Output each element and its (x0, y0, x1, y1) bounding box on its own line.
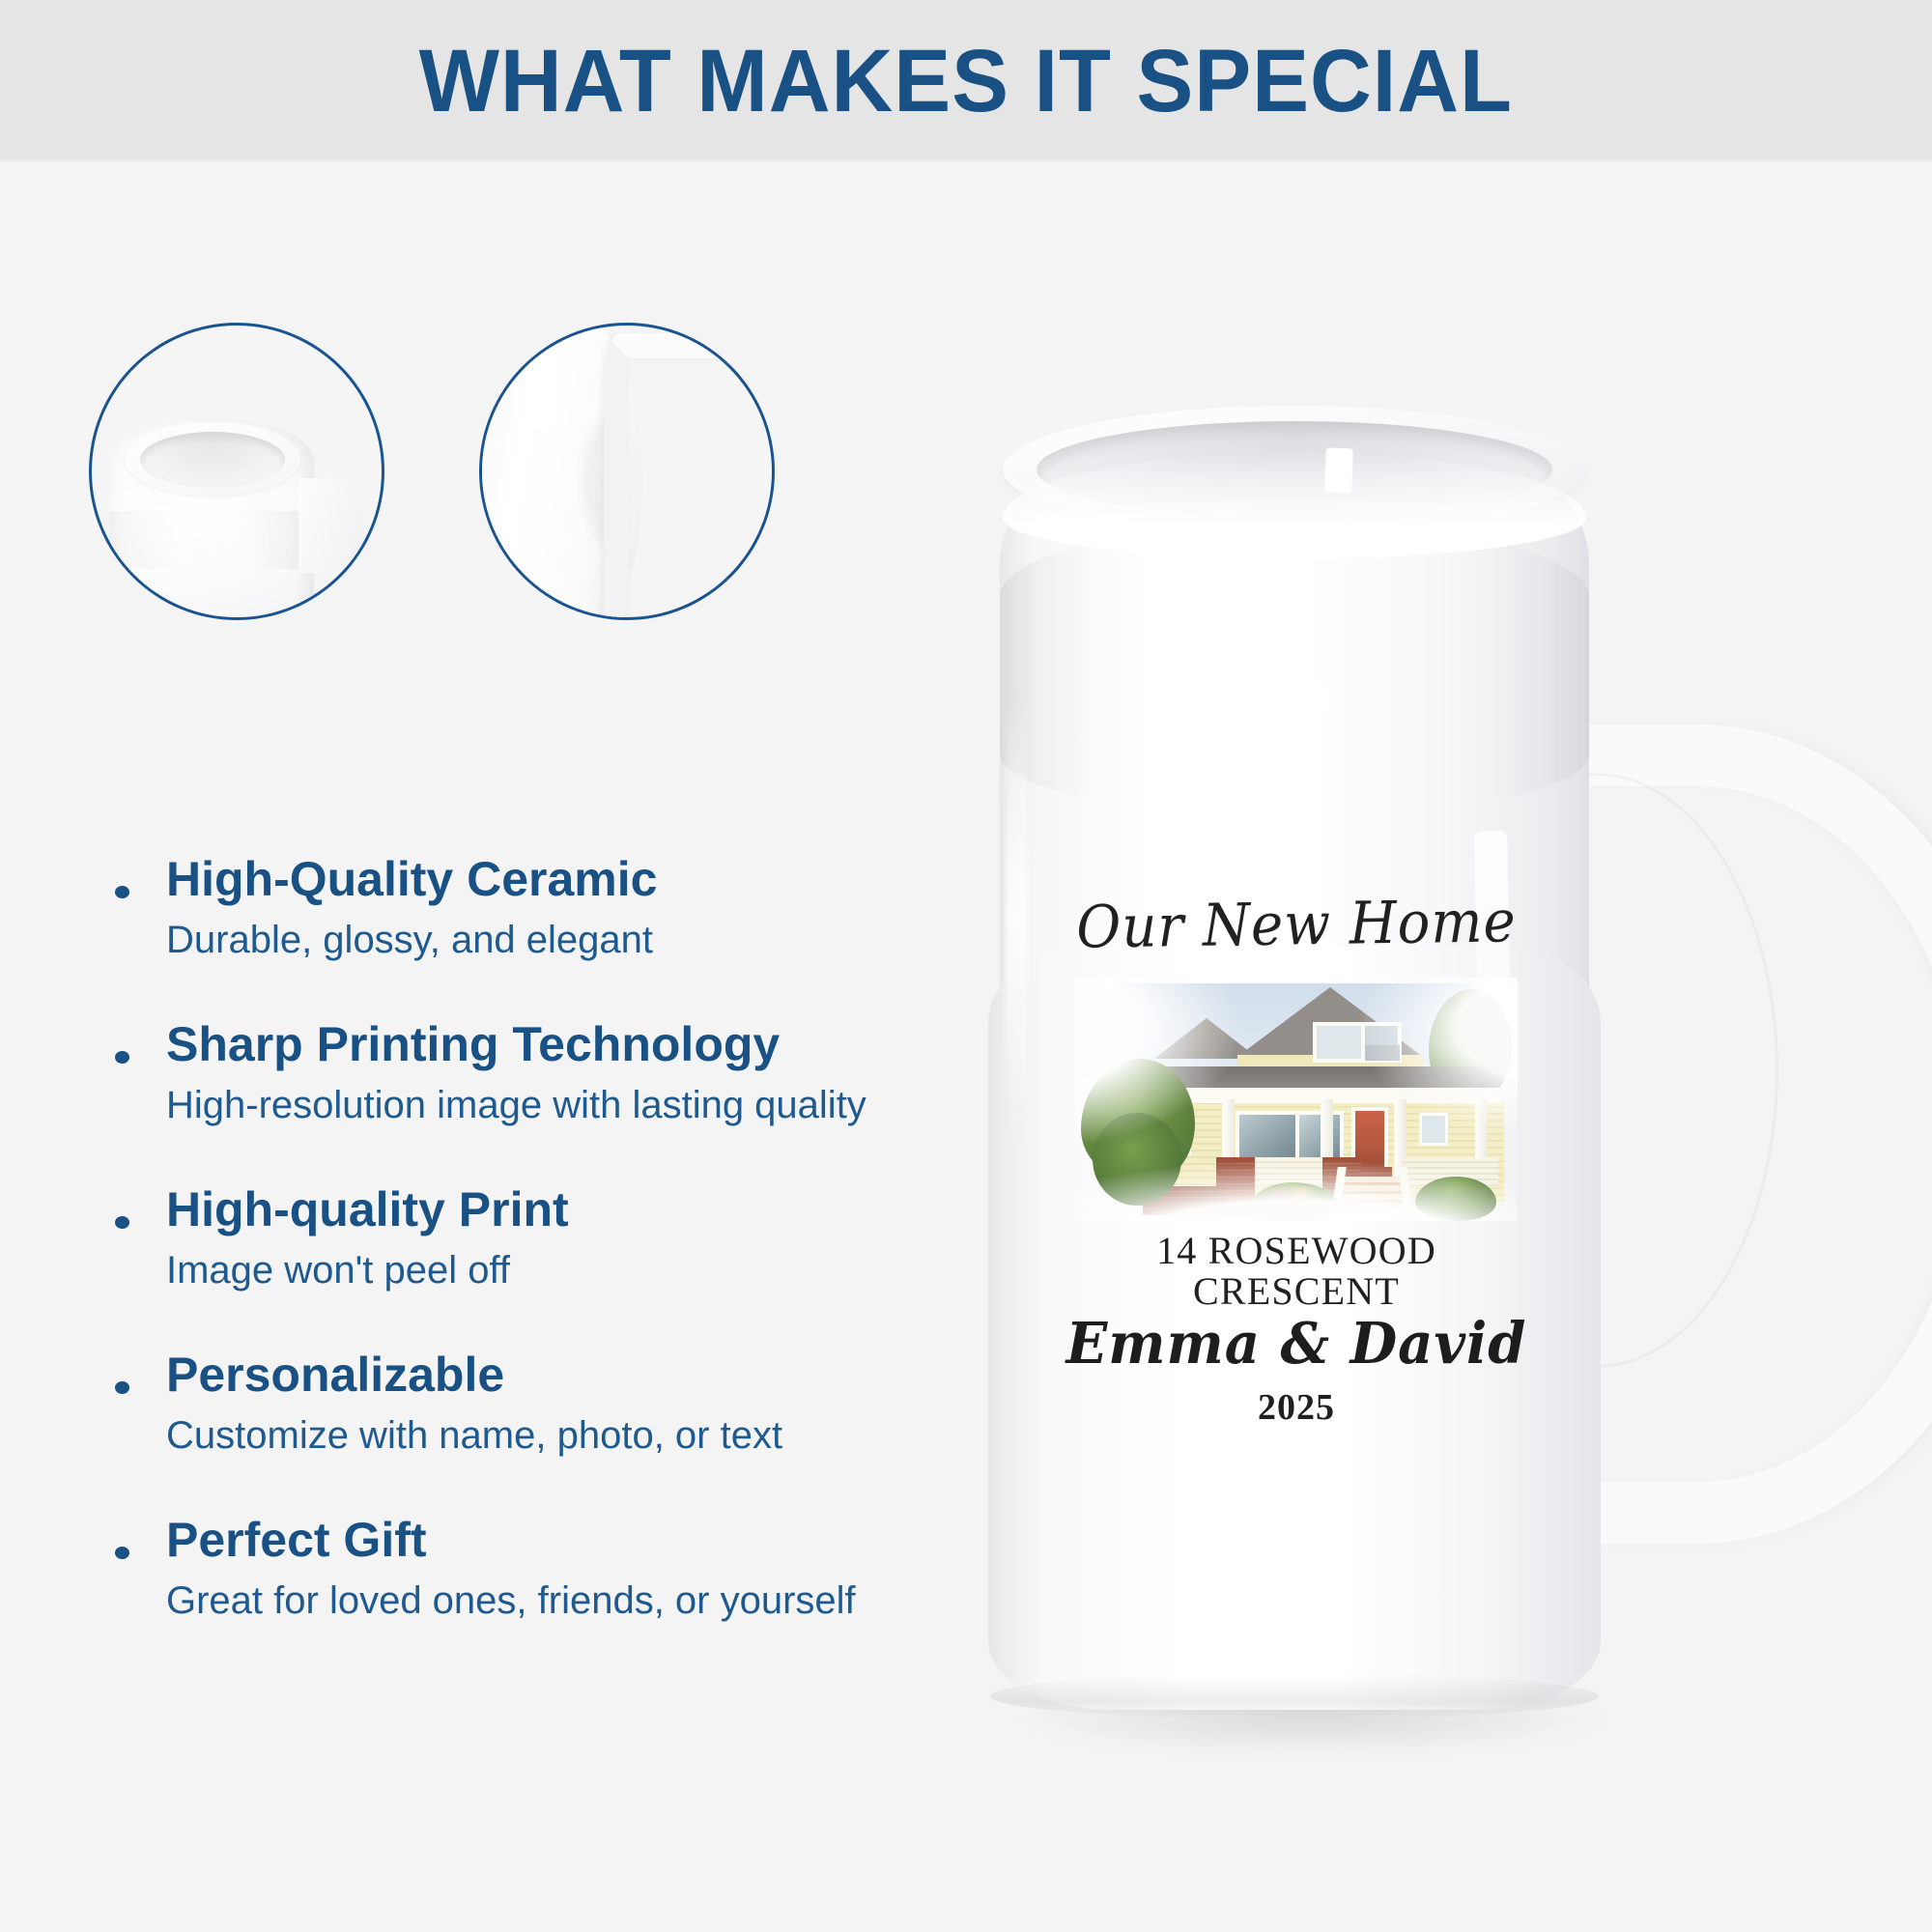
feature-title: Sharp Printing Technology (106, 1015, 869, 1074)
feature-title: Perfect Gift (106, 1511, 869, 1570)
page-title: WHAT MAKES IT SPECIAL (419, 37, 1513, 126)
bullet-dot-icon (115, 1051, 129, 1064)
photo-bush-left (1093, 1113, 1181, 1206)
feature-description: Customize with name, photo, or text (106, 1410, 869, 1461)
feature-item-print-quality: High-quality Print Image won't peel off (106, 1180, 869, 1295)
bullet-dot-icon (115, 1547, 129, 1559)
photo-air-conditioner (1365, 1045, 1400, 1061)
photo-roof-left (1154, 1018, 1259, 1059)
feature-title: High-quality Print (106, 1180, 869, 1239)
rim-closeup-opening-inner (140, 432, 285, 488)
print-names-script: Emma & David (1056, 1314, 1537, 1374)
print-year: 2025 (1056, 1386, 1537, 1429)
detail-circle-mug-rim (89, 323, 384, 620)
photo-bush-right (1415, 1177, 1496, 1221)
mug-rim-closeup-image (92, 326, 382, 617)
feature-item-printing: Sharp Printing Technology High-resolutio… (106, 1015, 869, 1130)
infographic-page: WHAT MAKES IT SPECIAL High-Quality Ceram… (0, 0, 1932, 1932)
bullet-dot-icon (115, 886, 129, 898)
feature-description: High-resolution image with lasting quali… (106, 1080, 869, 1130)
photo-gable-window (1313, 1022, 1367, 1063)
mug-highlight-rim (1324, 448, 1353, 494)
photo-window-right (1419, 1113, 1448, 1146)
feature-title: High-Quality Ceramic (106, 850, 869, 909)
detail-circle-mug-handle (479, 323, 775, 620)
feature-description: Great for loved ones, friends, or yourse… (106, 1576, 869, 1626)
photo-flowers (1264, 1186, 1317, 1211)
rim-closeup-handle-stub (298, 478, 366, 573)
feature-title: Personalizable (106, 1346, 869, 1405)
feature-description: Durable, glossy, and elegant (106, 915, 869, 965)
bullet-dot-icon (115, 1216, 129, 1229)
feature-item-personalizable: Personalizable Customize with name, phot… (106, 1346, 869, 1461)
mug-handle-closeup-image (482, 326, 772, 617)
photo-front-steps (1342, 1177, 1404, 1217)
feature-list: High-Quality Ceramic Durable, glossy, an… (106, 850, 869, 1626)
feature-item-perfect-gift: Perfect Gift Great for loved ones, frien… (106, 1511, 869, 1626)
mug-highlight-left-edge (1006, 696, 1027, 1140)
feature-description: Image won't peel off (106, 1245, 869, 1295)
handle-closeup-loop (604, 333, 775, 620)
mug-base-edge (990, 1673, 1599, 1719)
header-band: WHAT MAKES IT SPECIAL (0, 0, 1932, 162)
printed-house-photo (1075, 978, 1518, 1221)
print-address-line: 14 ROSEWOOD CRESCENT (1056, 1231, 1537, 1312)
mug-printed-design: Our New Home (1056, 898, 1537, 1429)
feature-item-ceramic: High-Quality Ceramic Durable, glossy, an… (106, 850, 869, 965)
print-heading-script: Our New Home (1056, 893, 1538, 957)
bullet-dot-icon (115, 1381, 129, 1394)
product-mug-image: Our New Home (1000, 406, 1918, 1777)
